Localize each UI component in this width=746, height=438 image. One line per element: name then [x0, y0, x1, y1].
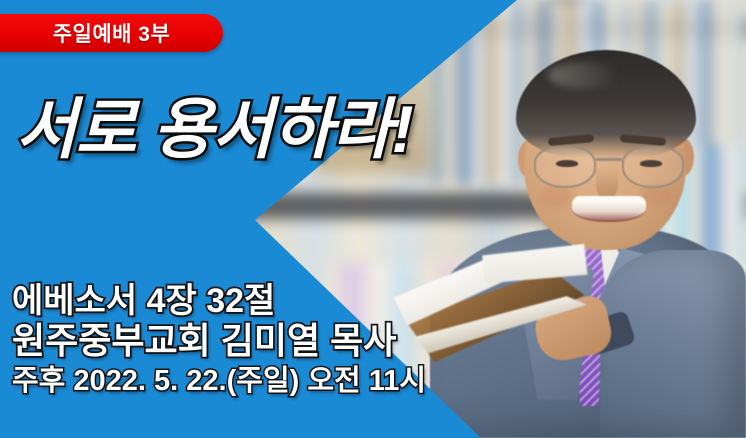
lens-left	[534, 146, 596, 188]
hair-highlight	[548, 62, 620, 88]
service-datetime: 주후 2022. 5. 22.(주일) 오전 11시	[12, 363, 426, 400]
glasses-bridge	[596, 158, 622, 161]
lens-right	[622, 146, 684, 188]
service-badge: 주일예배 3부	[0, 14, 223, 52]
smiling-mouth	[572, 196, 646, 222]
sermon-info-block: 에베소서 4장 32절 원주중부교회 김미열 목사 주후 2022. 5. 22…	[12, 282, 426, 400]
church-and-speaker: 원주중부교회 김미열 목사	[12, 320, 426, 362]
service-badge-label: 주일예배 3부	[27, 18, 171, 48]
sermon-banner: 주일예배 3부 서로 용서하라! 에베소서 4장 32절 원주중부교회 김미열 …	[0, 0, 746, 438]
scripture-reference: 에베소서 4장 32절	[12, 282, 426, 320]
cheek-left	[540, 186, 574, 208]
sermon-title: 서로 용서하라!	[16, 96, 413, 162]
